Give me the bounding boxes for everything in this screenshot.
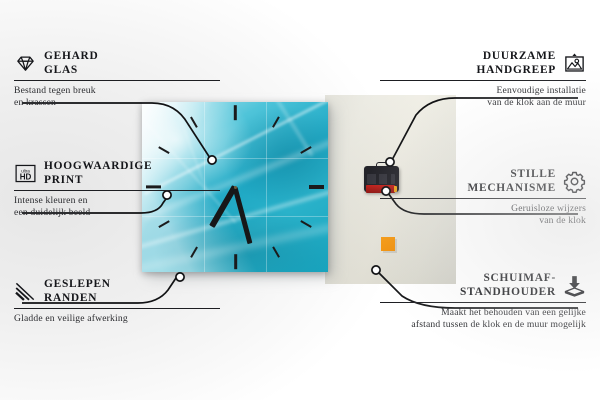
feature-description: Bestand tegen breuk en krassen [14, 85, 220, 108]
feature-divider [380, 302, 586, 303]
connector-gehard-glas [22, 103, 210, 158]
connector-dot-schuim [372, 266, 380, 274]
feature-geslepen-randen: GESLEPEN RANDEN Gladde en veilige afwerk… [14, 278, 220, 325]
feature-title: STILLE MECHANISME [467, 168, 556, 195]
beveled-edges-icon [14, 280, 37, 303]
feature-heading: STILLE MECHANISME [380, 168, 586, 195]
feature-title: GESLEPEN RANDEN [44, 278, 111, 305]
foam-spacer-icon [563, 274, 586, 297]
connector-dot-handgreep [386, 158, 394, 166]
product-infographic: GEHARD GLAS Bestand tegen breuk en krass… [0, 0, 600, 400]
svg-text:HD: HD [20, 173, 32, 182]
feature-stille-mechanisme: STILLE MECHANISME Geruisloze wijzers van… [380, 168, 586, 227]
picture-frame-icon [563, 52, 586, 75]
feature-divider [380, 80, 586, 81]
feature-divider [14, 80, 220, 81]
feature-title: HOOGWAARDIGE PRINT [44, 160, 152, 187]
feature-description: Gladde en veilige afwerking [14, 313, 220, 325]
feature-heading: ultra HD HOOGWAARDIGE PRINT [14, 160, 220, 187]
feature-schuimafstandhouder: SCHUIMAF- STANDHOUDER Maakt het behouden… [380, 272, 586, 331]
feature-heading: GEHARD GLAS [14, 50, 220, 77]
feature-title: SCHUIMAF- STANDHOUDER [460, 272, 556, 299]
feature-hoogwaardige-print: ultra HD HOOGWAARDIGE PRINT Intense kleu… [14, 160, 220, 219]
diamond-icon [14, 52, 37, 75]
feature-divider [14, 190, 220, 191]
feature-heading: SCHUIMAF- STANDHOUDER [380, 272, 586, 299]
feature-divider [14, 308, 220, 309]
feature-title: DUURZAME HANDGREEP [476, 50, 556, 77]
feature-description: Maakt het behouden van een gelijke afsta… [380, 307, 586, 330]
ultra-hd-icon: ultra HD [14, 162, 37, 185]
feature-description: Geruisloze wijzers van de klok [380, 203, 586, 226]
feature-title: GEHARD GLAS [44, 50, 99, 77]
gear-icon [563, 170, 586, 193]
feature-divider [380, 198, 586, 199]
feature-description: Eenvoudige installatie van de klok aan d… [380, 85, 586, 108]
feature-heading: DUURZAME HANDGREEP [380, 50, 586, 77]
feature-duurzame-handgreep: DUURZAME HANDGREEP Eenvoudige installati… [380, 50, 586, 109]
feature-heading: GESLEPEN RANDEN [14, 278, 220, 305]
feature-gehard-glas: GEHARD GLAS Bestand tegen breuk en krass… [14, 50, 220, 109]
feature-description: Intense kleuren en een duidelijk beeld [14, 195, 220, 218]
